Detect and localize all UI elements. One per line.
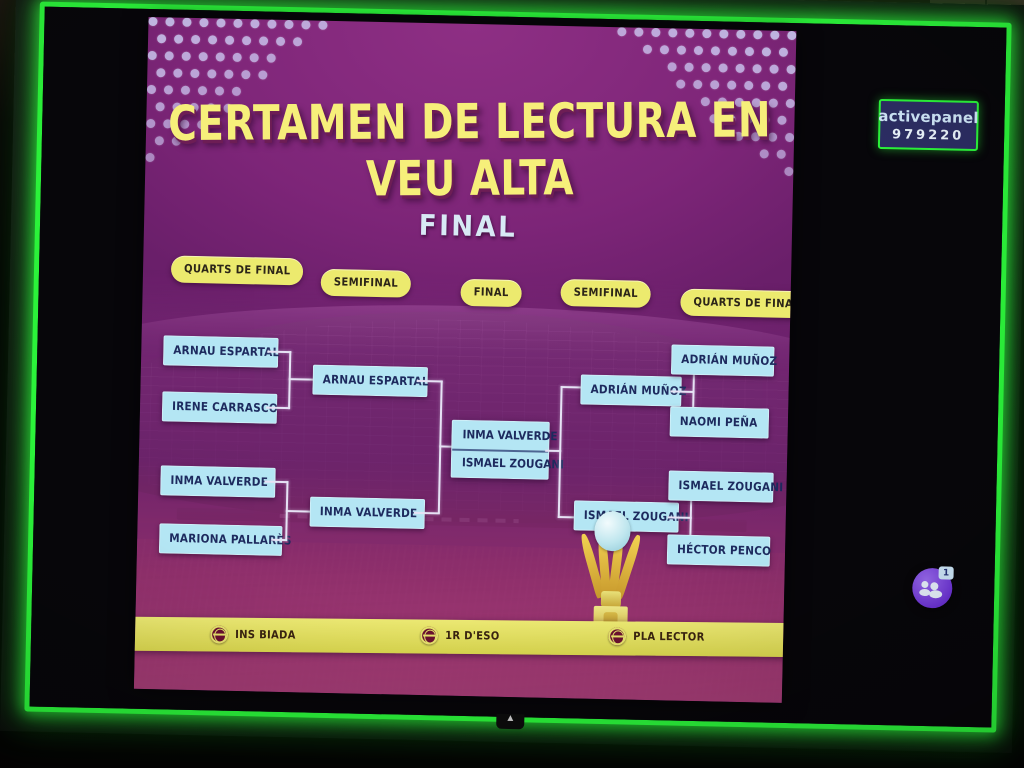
connector [286, 510, 312, 513]
player-name: INMA VALVERDE [462, 428, 557, 444]
globe-icon [210, 625, 228, 643]
footer-label: PLA LECTOR [633, 630, 705, 643]
player-name: INMA VALVERDE [320, 505, 418, 521]
bracket-slot-left-q1[interactable]: ARNAU ESPARTAL [163, 335, 279, 368]
player-name: ARNAU ESPARTAL [173, 344, 279, 360]
player-name: ADRIÁN MUÑOZ [681, 353, 777, 369]
panel-screen-bezel: CERTAMEN DE LECTURA EN VEU ALTA FINAL QU… [24, 2, 1011, 733]
bracket-slot-final-1[interactable]: INMA VALVERDE [452, 421, 549, 451]
interactive-display-panel: CERTAMEN DE LECTURA EN VEU ALTA FINAL QU… [0, 0, 1024, 753]
bracket-slot-right-q3[interactable]: ISMAEL ZOUGANI [668, 470, 774, 502]
bracket-slot-right-q1[interactable]: ADRIÁN MUÑOZ [671, 344, 775, 376]
connector [561, 386, 583, 388]
participants-count: 1 [943, 568, 949, 578]
bracket-slot-left-q4[interactable]: MARIONA PALLARÈS [159, 523, 283, 556]
activepanel-session-code: 979220 [892, 127, 965, 144]
footer-item-program: PLA LECTOR [608, 627, 705, 646]
connector [289, 378, 315, 381]
activepanel-session-badge: activepanel 979220 [878, 99, 979, 151]
bracket-slot-right-q2[interactable]: NAOMI PEÑA [670, 406, 770, 438]
panel-bottom-handle[interactable]: ▲ [496, 714, 524, 730]
footer-label: 1R D'ESO [445, 630, 500, 643]
bracket-slot-right-q4[interactable]: HÉCTOR PENCO [667, 534, 771, 566]
activepanel-brand: activepanel [878, 106, 979, 126]
bracket-slot-final-2[interactable]: ISMAEL ZOUGANI [452, 449, 549, 479]
bracket-final-pair[interactable]: INMA VALVERDE ISMAEL ZOUGANI [451, 420, 550, 480]
player-name: NAOMI PEÑA [680, 415, 758, 430]
bracket-slot-left-q3[interactable]: INMA VALVERDE [160, 465, 276, 498]
footer-item-grade: 1R D'ESO [420, 626, 500, 645]
screenshot-root: CERTAMEN DE LECTURA EN VEU ALTA FINAL QU… [0, 0, 1024, 768]
presentation-slide[interactable]: CERTAMEN DE LECTURA EN VEU ALTA FINAL QU… [134, 17, 797, 703]
tournament-bracket: ARNAU ESPARTAL IRENE CARRASCO INMA VALVE… [134, 17, 797, 703]
bracket-slot-right-s1[interactable]: ADRIÁN MUÑOZ [580, 374, 682, 406]
player-name: ARNAU ESPARTAL [323, 373, 429, 389]
connector [558, 386, 563, 518]
footer-item-school: INS BIADA [210, 625, 296, 644]
footer-label: INS BIADA [235, 629, 296, 642]
player-name: INMA VALVERDE [170, 474, 268, 490]
player-name: ISMAEL ZOUGANI [678, 479, 783, 495]
bracket-slot-left-s2[interactable]: INMA VALVERDE [309, 497, 425, 530]
slide-footer-bar: INS BIADA 1R D'ESO PLA LECTOR [134, 617, 796, 657]
bracket-slot-left-q2[interactable]: IRENE CARRASCO [162, 391, 278, 424]
bracket-slot-left-s1[interactable]: ARNAU ESPARTAL [312, 365, 428, 398]
player-name: IRENE CARRASCO [172, 400, 278, 416]
globe-icon [420, 626, 438, 644]
participants-count-badge: 1 [938, 566, 953, 579]
player-name: ISMAEL ZOUGANI [462, 456, 564, 472]
player-name: HÉCTOR PENCO [677, 543, 771, 558]
globe-icon [608, 627, 626, 645]
people-icon [920, 581, 944, 596]
